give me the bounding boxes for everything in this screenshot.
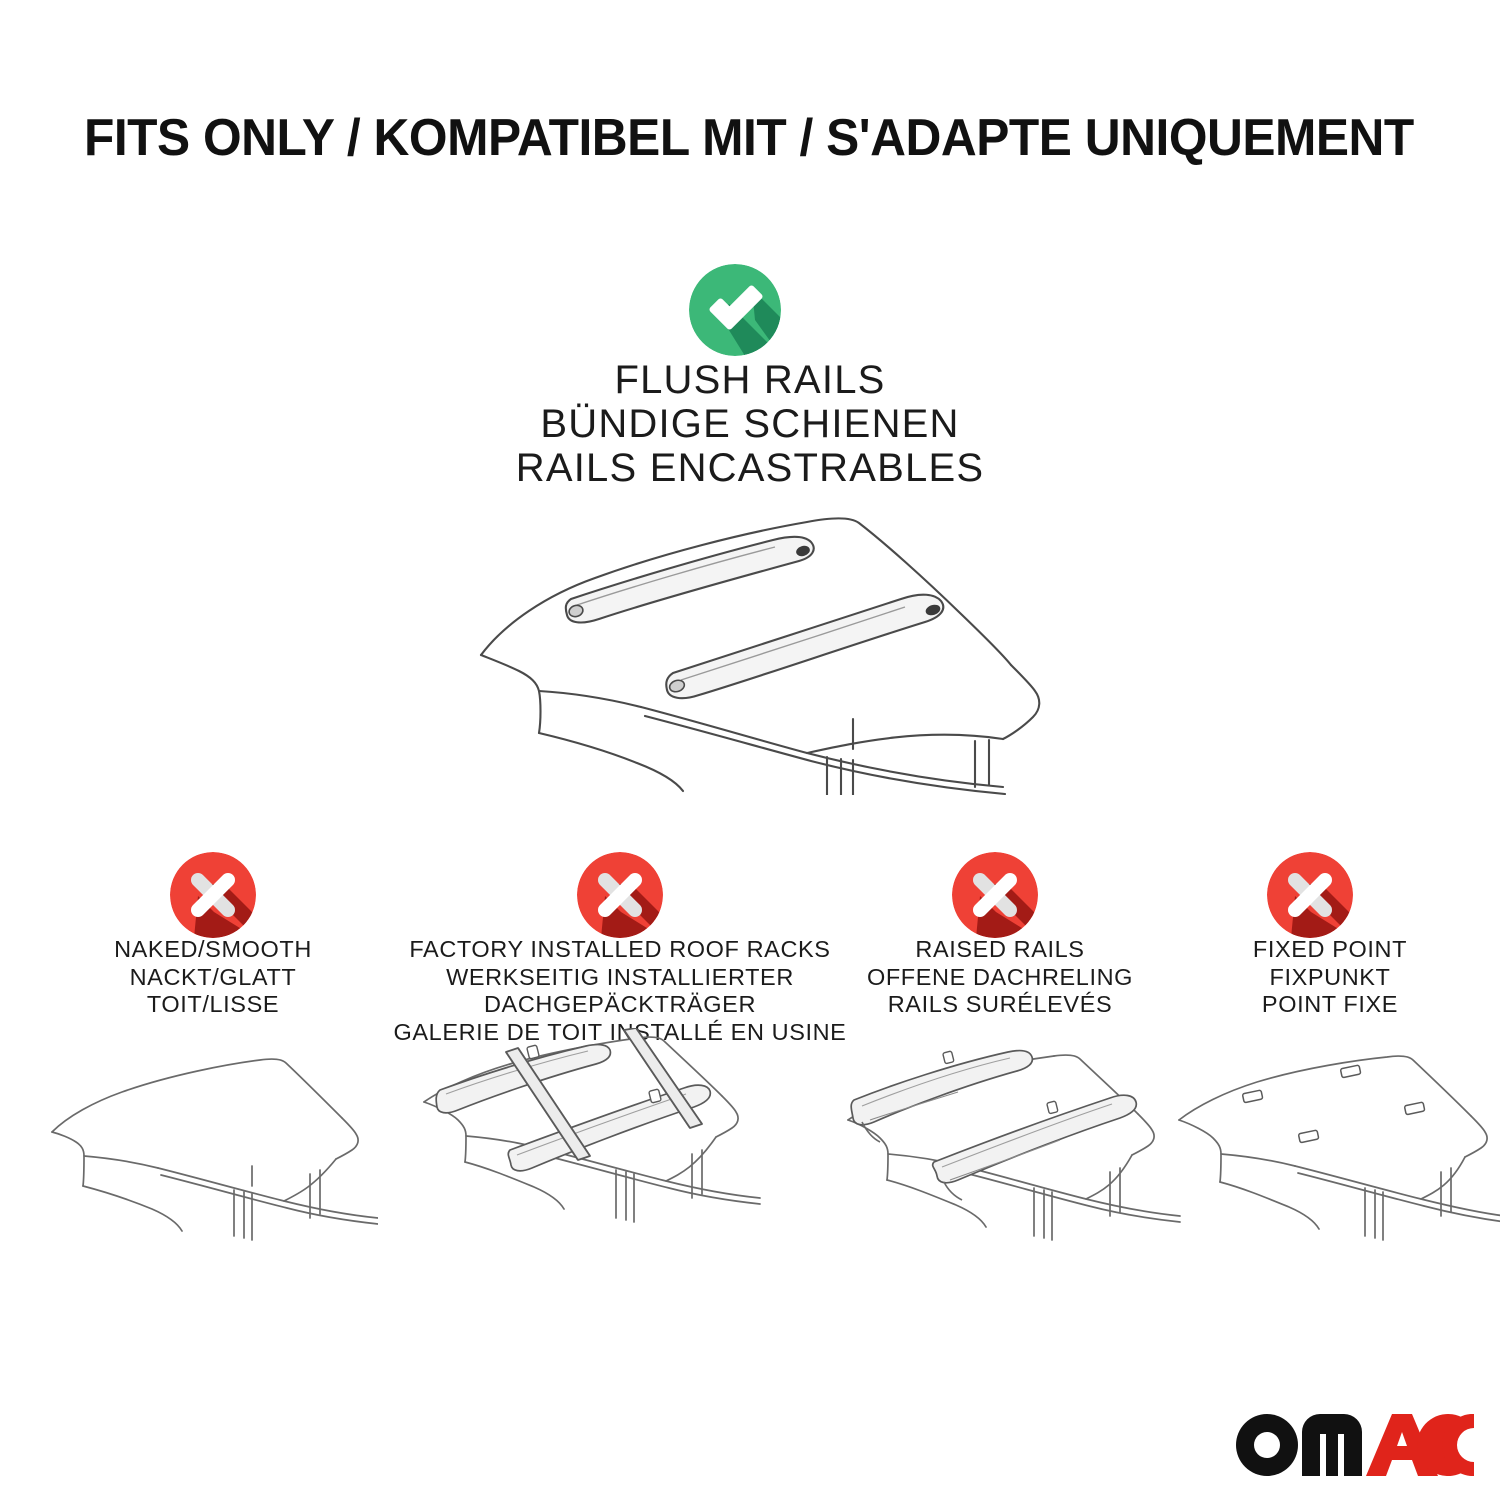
check-glyph <box>689 264 781 356</box>
page-title: FITS ONLY / KOMPATIBEL MIT / S'ADAPTE UN… <box>84 108 1364 168</box>
x-glyph <box>170 852 256 938</box>
caption-line-de-1: WERKSEITIG INSTALLIERTER <box>390 964 850 992</box>
caption-line-fr: RAILS SURÉLEVÉS <box>840 991 1160 1019</box>
x-circle-icon <box>170 852 256 938</box>
car-roof-naked-smooth-illustration <box>48 1054 378 1254</box>
caption-line-fr: POINT FIXE <box>1175 991 1485 1019</box>
logo-letter-m <box>1302 1414 1362 1476</box>
caption-line-en: NAKED/SMOOTH <box>48 936 378 964</box>
incompatible-column-factory-roof-racks: FACTORY INSTALLED ROOF RACKS WERKSEITIG … <box>390 936 850 1046</box>
caption-line-en: RAISED RAILS <box>840 936 1160 964</box>
x-circle-icon <box>952 852 1038 938</box>
caption-line-en: FACTORY INSTALLED ROOF RACKS <box>390 936 850 964</box>
car-roof-raised-rails-illustration <box>818 1046 1188 1261</box>
x-glyph <box>1267 852 1353 938</box>
caption-line-de-2: DACHGEPÄCKTRÄGER <box>390 991 850 1019</box>
compatible-caption: FLUSH RAILS BÜNDIGE SCHIENEN RAILS ENCAS… <box>250 358 1250 490</box>
caption-line-de: FIXPUNKT <box>1175 964 1485 992</box>
compatible-line-en: FLUSH RAILS <box>250 358 1250 402</box>
compatible-line-fr: RAILS ENCASTRABLES <box>250 446 1250 490</box>
fitment-compatibility-graphic: FITS ONLY / KOMPATIBEL MIT / S'ADAPTE UN… <box>0 0 1500 1500</box>
car-roof-factory-roof-racks-illustration <box>400 1028 770 1243</box>
incompatible-column-fixed-point: FIXED POINT FIXPUNKT POINT FIXE <box>1175 936 1485 1019</box>
x-circle-icon <box>577 852 663 938</box>
x-glyph <box>952 852 1038 938</box>
car-roof-fixed-point-illustration <box>1165 1054 1500 1264</box>
caption: FIXED POINT FIXPUNKT POINT FIXE <box>1175 936 1485 1019</box>
caption: RAISED RAILS OFFENE DACHRELING RAILS SUR… <box>840 936 1160 1019</box>
check-circle-icon <box>689 264 781 356</box>
x-glyph <box>577 852 663 938</box>
caption-line-fr: TOIT/LISSE <box>48 991 378 1019</box>
car-roof-flush-rails-illustration <box>455 495 1065 795</box>
incompatible-column-naked-smooth: NAKED/SMOOTH NACKT/GLATT TOIT/LISSE <box>48 936 378 1019</box>
caption: NAKED/SMOOTH NACKT/GLATT TOIT/LISSE <box>48 936 378 1019</box>
caption-line-de: OFFENE DACHRELING <box>840 964 1160 992</box>
omac-logo <box>1236 1414 1474 1476</box>
logo-letter-o <box>1236 1414 1298 1476</box>
incompatible-column-raised-rails: RAISED RAILS OFFENE DACHRELING RAILS SUR… <box>840 936 1160 1019</box>
x-circle-icon <box>1267 852 1353 938</box>
compatible-line-de: BÜNDIGE SCHIENEN <box>250 402 1250 446</box>
caption-line-en: FIXED POINT <box>1175 936 1485 964</box>
caption-line-de: NACKT/GLATT <box>48 964 378 992</box>
